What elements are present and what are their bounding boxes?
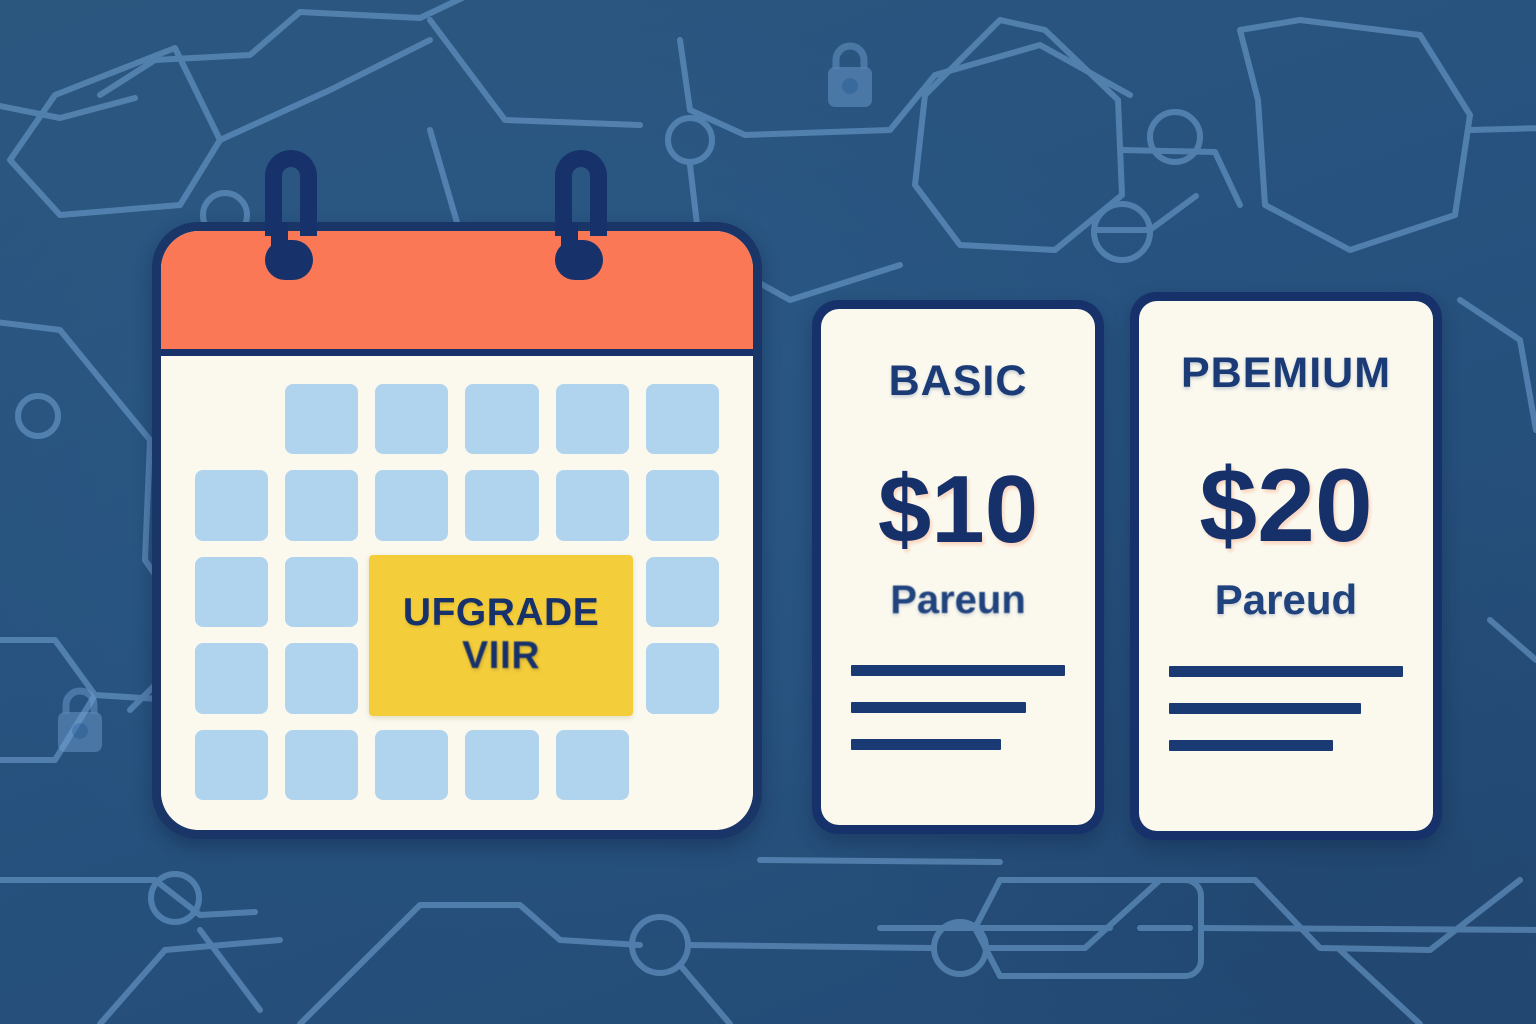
calendar-ring-left xyxy=(265,150,317,280)
calendar-header-band xyxy=(161,231,753,356)
day-cell[interactable] xyxy=(465,730,538,800)
upgrade-banner-line2: VIIR xyxy=(462,634,540,678)
day-cell[interactable] xyxy=(556,470,629,540)
day-cell[interactable] xyxy=(465,384,538,454)
calendar-card[interactable]: UFGRADE VIIR xyxy=(152,222,762,839)
upgrade-banner-line1: UFGRADE xyxy=(403,592,599,634)
feature-bar xyxy=(1169,703,1361,714)
plan-name-basic: BASIC xyxy=(889,357,1028,406)
pricing-card-premium[interactable]: PBEMIUM $20 Pareud xyxy=(1130,292,1442,840)
feature-bar xyxy=(1169,740,1333,751)
ring-bulb xyxy=(555,240,603,280)
plan-feature-bars-premium xyxy=(1139,666,1433,751)
day-cell[interactable] xyxy=(285,470,358,540)
day-cell[interactable] xyxy=(646,470,719,540)
day-cell[interactable] xyxy=(646,557,719,627)
calendar-illustration: UFGRADE VIIR xyxy=(143,150,763,850)
day-cell[interactable] xyxy=(646,384,719,454)
day-cell-empty xyxy=(646,730,719,800)
plan-feature-bars-basic xyxy=(821,665,1095,750)
day-cell-empty xyxy=(195,384,268,454)
day-cell[interactable] xyxy=(556,384,629,454)
day-cell[interactable] xyxy=(375,730,448,800)
day-cell[interactable] xyxy=(646,643,719,713)
upgrade-banner[interactable]: UFGRADE VIIR xyxy=(369,555,633,716)
plan-price-basic: $10 xyxy=(878,462,1038,558)
day-cell[interactable] xyxy=(285,557,358,627)
calendar-day-grid: UFGRADE VIIR xyxy=(195,384,719,800)
pricing-card-premium-inner: PBEMIUM $20 Pareud xyxy=(1139,301,1433,831)
calendar-card-inner: UFGRADE VIIR xyxy=(161,231,753,830)
day-cell[interactable] xyxy=(375,470,448,540)
feature-bar xyxy=(851,665,1065,676)
plan-name-premium: PBEMIUM xyxy=(1181,349,1391,398)
feature-bar xyxy=(851,739,1001,750)
day-cell[interactable] xyxy=(285,384,358,454)
plan-period-basic: Pareun xyxy=(890,578,1026,623)
day-cell[interactable] xyxy=(465,470,538,540)
pricing-card-basic-inner: BASIC $10 Pareun xyxy=(821,309,1095,825)
day-cell[interactable] xyxy=(195,643,268,713)
calendar-body: UFGRADE VIIR xyxy=(161,356,753,830)
day-cell[interactable] xyxy=(285,730,358,800)
feature-bar xyxy=(1169,666,1403,677)
ring-bulb xyxy=(265,240,313,280)
day-cell[interactable] xyxy=(556,730,629,800)
pricing-card-basic[interactable]: BASIC $10 Pareun xyxy=(812,300,1104,834)
plan-period-premium: Pareud xyxy=(1215,576,1357,624)
day-cell[interactable] xyxy=(285,643,358,713)
day-cell[interactable] xyxy=(195,730,268,800)
day-cell[interactable] xyxy=(195,470,268,540)
day-cell[interactable] xyxy=(375,384,448,454)
plan-price-premium: $20 xyxy=(1199,454,1373,558)
feature-bar xyxy=(851,702,1026,713)
poster-canvas: UFGRADE VIIR xyxy=(0,0,1536,1024)
day-cell[interactable] xyxy=(195,557,268,627)
calendar-ring-right xyxy=(555,150,607,280)
